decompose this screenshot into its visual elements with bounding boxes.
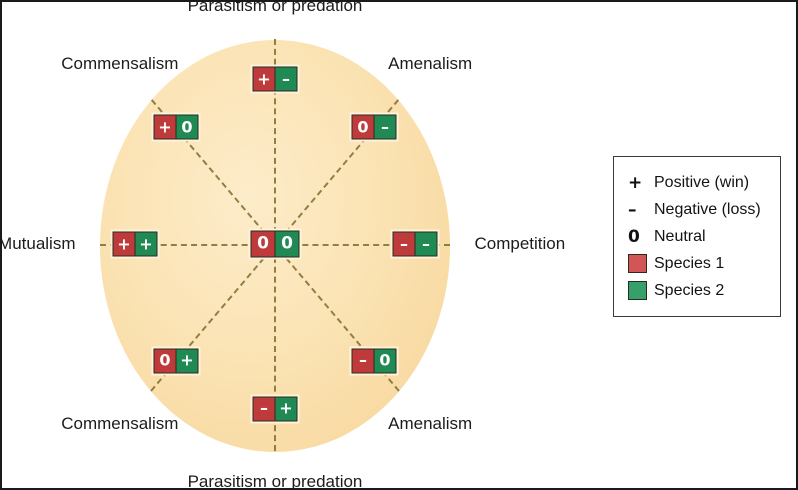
species2-swatch-icon — [628, 281, 654, 300]
species2-symbol: + — [176, 349, 198, 372]
symbol-pair-parasitism-bottom: –+ — [253, 396, 298, 421]
symbol-pair-amenalism-bottom-right: –0 — [351, 348, 396, 373]
interaction-label-competition-right: Competition — [475, 234, 566, 254]
symbol-pair-competition-right: –– — [393, 232, 438, 257]
legend-label: Neutral — [654, 228, 706, 246]
species2-symbol: – — [415, 233, 437, 256]
legend-box: +Positive (win)–Negative (loss)0NeutralS… — [613, 156, 781, 317]
interaction-label-parasitism-bottom: Parasitism or predation — [188, 472, 363, 490]
symbol-pair-mutualism-left: ++ — [113, 232, 158, 257]
legend-key-glyph: + — [628, 173, 654, 193]
legend-rows: +Positive (win)–Negative (loss)0NeutralS… — [628, 169, 770, 304]
center-pair-neutral: 0 0 — [251, 231, 300, 258]
species2-symbol: – — [275, 68, 297, 91]
legend-row: Species 1 — [628, 250, 770, 277]
species1-symbol: + — [155, 116, 176, 139]
legend-row: +Positive (win) — [628, 169, 770, 196]
species2-symbol: + — [135, 233, 157, 256]
species1-symbol: + — [114, 233, 135, 256]
symbol-pair-commensalism-top-left: +0 — [154, 115, 199, 140]
legend-row: –Negative (loss) — [628, 196, 770, 223]
center-species2-symbol: 0 — [275, 232, 299, 257]
species1-swatch-icon — [628, 254, 654, 273]
interaction-label-amenalism-bottom-right: Amenalism — [388, 414, 472, 434]
legend-row: Species 2 — [628, 277, 770, 304]
symbol-pair-amenalism-top-right: 0– — [351, 115, 396, 140]
species1-symbol: – — [394, 233, 415, 256]
legend-label: Species 2 — [654, 282, 724, 300]
species1-swatch — [628, 254, 647, 273]
legend-key-glyph: 0 — [628, 227, 654, 247]
interaction-label-amenalism-top-right: Amenalism — [388, 54, 472, 74]
species2-symbol: 0 — [176, 116, 198, 139]
symbol-pair-parasitism-top: +– — [253, 67, 298, 92]
interaction-label-commensalism-bottom-left: Commensalism — [61, 414, 178, 434]
symbol-pair-commensalism-bottom-left: 0+ — [154, 348, 199, 373]
species2-symbol: 0 — [373, 349, 395, 372]
interaction-label-commensalism-top-left: Commensalism — [61, 54, 178, 74]
figure-frame: +–Parasitism or predation0–Amenalism––Co… — [0, 0, 798, 490]
center-species1-symbol: 0 — [252, 232, 275, 257]
species1-symbol: – — [352, 349, 373, 372]
interaction-label-parasitism-top: Parasitism or predation — [188, 0, 363, 16]
species1-symbol: 0 — [352, 116, 373, 139]
species1-symbol: – — [254, 397, 275, 420]
species2-symbol: + — [275, 397, 297, 420]
legend-row: 0Neutral — [628, 223, 770, 250]
legend-label: Negative (loss) — [654, 201, 761, 219]
species2-symbol: – — [373, 116, 395, 139]
legend-label: Species 1 — [654, 255, 724, 273]
species2-swatch — [628, 281, 647, 300]
legend-key-glyph: – — [628, 200, 654, 220]
diagram-canvas: +–Parasitism or predation0–Amenalism––Co… — [2, 2, 798, 490]
species1-symbol: + — [254, 68, 275, 91]
legend-label: Positive (win) — [654, 174, 749, 192]
species1-symbol: 0 — [155, 349, 176, 372]
interaction-label-mutualism-left: Mutualism — [0, 234, 76, 254]
